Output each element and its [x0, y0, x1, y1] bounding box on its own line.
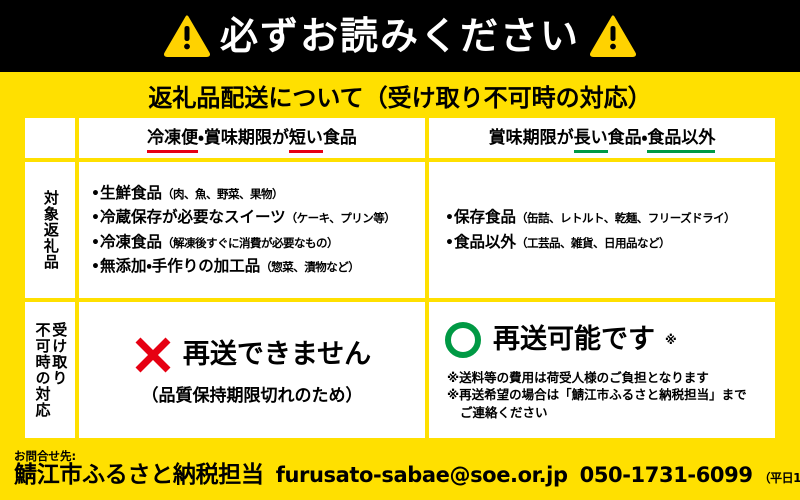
column-header-left-part4: 食品 — [323, 128, 357, 148]
column-header-right-part4: 食品以外 — [647, 128, 715, 153]
header-bar: 必ずお読みください — [0, 0, 800, 72]
row-label-undeliverable-response: 受け取り 不可時の対応 — [25, 302, 75, 438]
list-item: •生鮮食品（肉、魚、野菜、果物） — [91, 185, 417, 202]
contact-phone[interactable]: 050-1731-6099 — [580, 465, 753, 486]
contact-kicker: お問合せ先: — [14, 451, 788, 463]
list-item-main: 冷蔵保存が必要なスイーツ — [100, 208, 286, 226]
target-items-left-list: •生鮮食品（肉、魚、野菜、果物） •冷蔵保存が必要なスイーツ（ケーキ、プリン等）… — [79, 162, 425, 298]
list-item-main: 無添加・手作りの加工品 — [100, 257, 260, 275]
column-header-short-shelf-life: 冷凍便・賞味期限が短い食品 — [79, 118, 425, 158]
poster-root: 必ずお読みください 返礼品配送について（受け取り不可時の対応） 冷凍便・賞味期限… — [0, 0, 800, 500]
warning-triangle-icon — [590, 15, 636, 57]
result-label-cannot-resend: 再送できません — [183, 341, 371, 368]
warning-triangle-icon — [164, 15, 210, 57]
column-header-right-part3: 食品 — [608, 128, 642, 148]
list-item-note: （缶詰、レトルト、乾麺、フリーズドライ） — [516, 211, 735, 225]
list-item: •食品以外（工芸品、雑貨、日用品など） — [445, 234, 767, 251]
list-item: •保存食品（缶詰、レトルト、乾麺、フリーズドライ） — [445, 209, 767, 226]
column-header-left-part1: 冷凍便 — [147, 128, 198, 153]
contact-email-link[interactable]: furusato-sabae@soe.or.jp — [276, 465, 568, 486]
list-item-note: （工芸品、雑貨、日用品など） — [516, 236, 670, 250]
page-title: 必ずお読みください — [220, 17, 580, 55]
contact-hours: （平日10:00-17:00対応） — [759, 472, 800, 484]
list-item-note: （惣菜、漬物など） — [260, 260, 359, 274]
target-items-right-list: •保存食品（缶詰、レトルト、乾麺、フリーズドライ） •食品以外（工芸品、雑貨、日… — [429, 162, 775, 298]
column-header-left-part2: 賞味期限が — [204, 128, 289, 148]
list-item-main: 生鮮食品 — [100, 184, 162, 202]
list-item: •冷凍食品（解凍後すぐに消費が必要なもの） — [91, 234, 417, 251]
contact-department: 鯖江市ふるさと納税担当 — [14, 464, 264, 487]
column-header-right-part2: 長い — [574, 128, 608, 153]
row-label-target-items: 対象返礼品 — [25, 162, 75, 298]
note-line: ※再送希望の場合は「鯖江市ふるさと納税担当」まで — [447, 387, 747, 403]
list-item: •無添加・手作りの加工品（惣菜、漬物など） — [91, 258, 417, 275]
list-item: •冷蔵保存が必要なスイーツ（ケーキ、プリン等） — [91, 209, 417, 226]
bullet-icon: • — [91, 235, 100, 251]
list-item-main: 保存食品 — [454, 208, 516, 226]
column-header-left-part3: 短い — [289, 128, 323, 153]
bullet-icon: • — [445, 210, 454, 226]
list-item-note: （解凍後すぐに消費が必要なもの） — [162, 236, 338, 250]
resend-notes: ※送料等の費用は荷受人様のご負担となります ※再送希望の場合は「鯖江市ふるさと納… — [443, 370, 747, 421]
list-item-main: 冷凍食品 — [100, 233, 162, 251]
column-header-right-part1: 賞味期限が — [489, 128, 574, 148]
sub-banner: 返礼品配送について（受け取り不可時の対応） — [0, 72, 800, 118]
comparison-table: 冷凍便・賞味期限が短い食品 賞味期限が長い食品・食品以外 対象返礼品 •生鮮食品… — [25, 118, 775, 438]
result-label-can-resend: 再送可能です — [493, 326, 655, 353]
bullet-icon: • — [91, 210, 100, 226]
list-item-note: （ケーキ、プリン等） — [286, 211, 396, 225]
bullet-icon: • — [91, 186, 100, 202]
column-header-long-shelf-life: 賞味期限が長い食品・食品以外 — [429, 118, 775, 158]
comparison-table-wrap: 冷凍便・賞味期限が短い食品 賞味期限が長い食品・食品以外 対象返礼品 •生鮮食品… — [0, 118, 800, 438]
result-cell-can-resend: 再送可能です※ ※送料等の費用は荷受人様のご負担となります ※再送希望の場合は「… — [429, 302, 775, 438]
result-superscript: ※ — [665, 334, 677, 346]
result-cell-cannot-resend: 再送できません （品質保持期限切れのため） — [79, 302, 425, 438]
bullet-icon: • — [91, 259, 100, 275]
sub-banner-text: 返礼品配送について（受け取り不可時の対応） — [148, 78, 651, 113]
table-corner-cell — [25, 118, 75, 158]
bullet-icon: • — [445, 235, 454, 251]
row-label-target-items-text: 対象返礼品 — [42, 190, 58, 270]
result-sublabel-cannot-resend: （品質保持期限切れのため） — [142, 381, 363, 406]
contact-footer: お問合せ先: 鯖江市ふるさと納税担当 furusato-sabae@soe.or… — [0, 438, 800, 500]
note-line: ご連絡ください — [447, 405, 747, 421]
cross-mark-icon — [133, 335, 173, 375]
circle-mark-icon — [443, 320, 483, 360]
row-label-undeliverable-col1: 受け取り — [51, 322, 67, 386]
list-item-note: （肉、魚、野菜、果物） — [162, 187, 283, 201]
note-line: ※送料等の費用は荷受人様のご負担となります — [447, 370, 747, 386]
list-item-main: 食品以外 — [454, 233, 516, 251]
row-label-undeliverable-col2: 不可時の対応 — [34, 322, 50, 418]
